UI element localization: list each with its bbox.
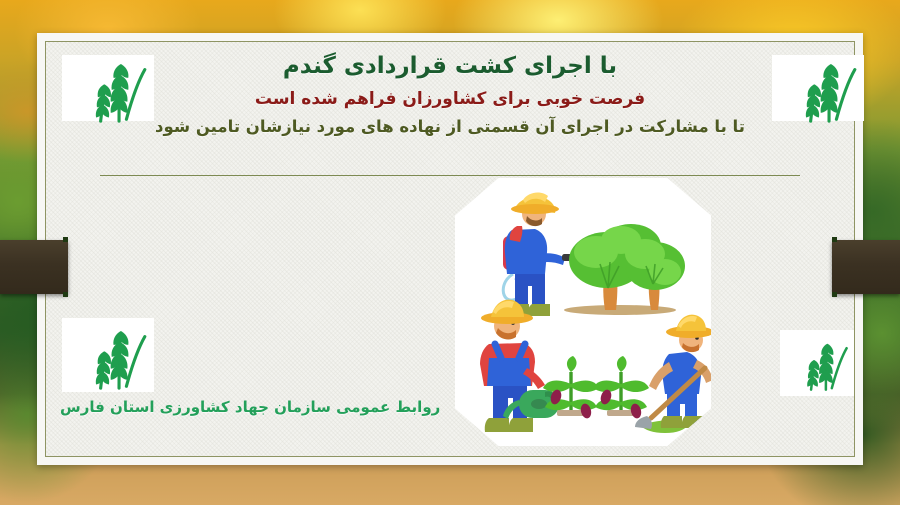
tree-icon — [564, 224, 685, 315]
farmers-illustration-svg — [455, 178, 711, 446]
wheat-icon — [780, 326, 854, 400]
plant-icon — [543, 356, 649, 419]
horizontal-rule-divider — [100, 175, 800, 176]
ribbon-notch-icon — [832, 237, 837, 242]
credit-line: روابط عمومی سازمان جهاد کشاورزی استان فا… — [60, 398, 440, 416]
ribbon-tab-left — [0, 240, 68, 294]
wheat-icon — [772, 42, 864, 134]
wheat-icon — [62, 309, 154, 401]
headings-block: با اجرای کشت قراردادی گندم فرصت خوبی برا… — [50, 52, 850, 137]
ribbon-notch-icon — [832, 292, 837, 297]
subtitle-two: تا با مشارکت در اجرای آن قسمتی از نهاده … — [50, 116, 850, 137]
ribbon-notch-icon — [63, 237, 68, 242]
ribbon-tab-right — [832, 240, 900, 294]
wheat-logo-top-left — [62, 55, 154, 121]
farmer-hoe-icon — [635, 315, 711, 433]
farmers-illustration — [455, 178, 711, 446]
ribbon-notch-icon — [63, 292, 68, 297]
page-title: با اجرای کشت قراردادی گندم — [50, 52, 850, 81]
subtitle-one: فرصت خوبی برای کشاورزان فراهم شده است — [50, 88, 850, 110]
wheat-icon — [62, 42, 154, 134]
farmer-watering-can-icon — [480, 300, 559, 432]
wheat-logo-bottom-right — [780, 330, 854, 396]
banner-stage: با اجرای کشت قراردادی گندم فرصت خوبی برا… — [0, 0, 900, 505]
wheat-logo-bottom-left — [62, 318, 154, 392]
wheat-logo-top-right — [772, 55, 864, 121]
